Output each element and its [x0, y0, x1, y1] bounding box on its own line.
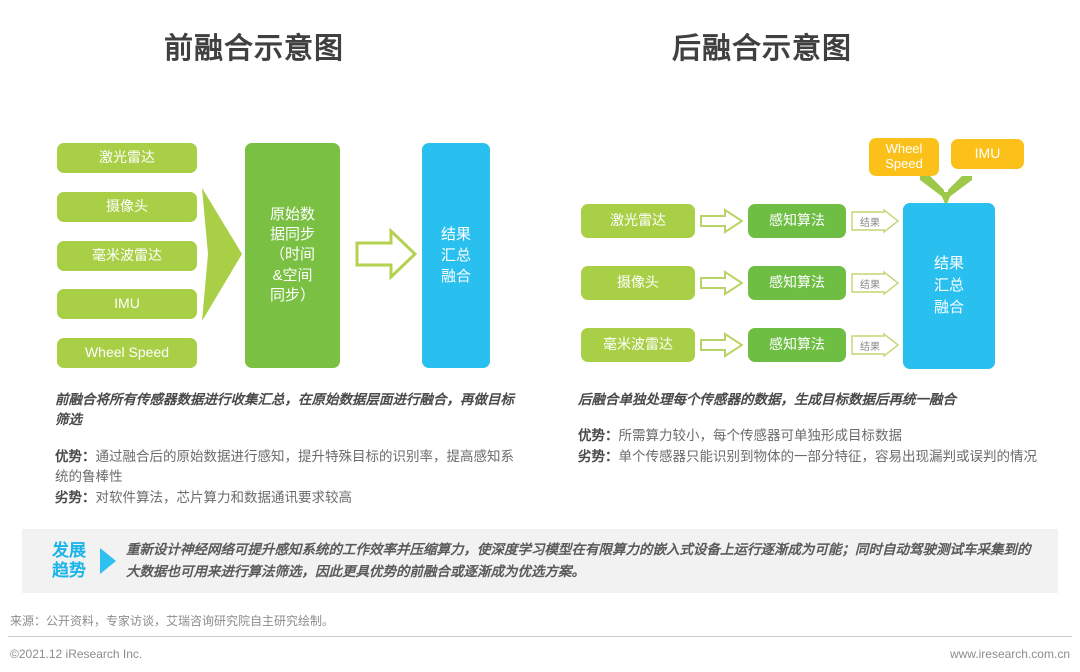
right-algorithm-box: 感知算法: [748, 266, 846, 300]
right-result-arrow: 结果: [851, 271, 899, 295]
right-sensor-box: 激光雷达: [581, 204, 695, 238]
left-con-label: 劣势：: [55, 490, 96, 505]
right-description-lead: 后融合单独处理每个传感器的数据，生成目标数据后再统一融合: [578, 390, 1040, 410]
right-con-label: 劣势：: [578, 449, 619, 464]
right-extra-input-box: Wheel Speed: [869, 138, 939, 176]
right-result-label: 结果: [851, 271, 889, 295]
left-con-text: 对软件算法，芯片算力和数据通讯要求较高: [96, 490, 353, 505]
left-sensor-box: Wheel Speed: [57, 338, 197, 368]
right-algorithm-box: 感知算法: [748, 328, 846, 362]
footer-divider: [8, 636, 1072, 637]
right-con-text: 单个传感器只能识别到物体的一部分特征，容易出现漏判或误判的情况: [619, 449, 1038, 464]
left-sensor-box: IMU: [57, 289, 197, 319]
right-description: 后融合单独处理每个传感器的数据，生成目标数据后再统一融合 优势：所需算力较小，每…: [578, 390, 1040, 468]
triangle-right-icon: [100, 548, 116, 574]
hollow-arrow-right-icon: [355, 228, 417, 280]
left-sensor-box: 毫米波雷达: [57, 241, 197, 271]
trend-text: 重新设计神经网络可提升感知系统的工作效率并压缩算力，使深度学习模型在有限算力的嵌…: [126, 539, 1058, 582]
left-process-box: 原始数 据同步 （时间 &空间 同步）: [245, 143, 340, 368]
hollow-arrow-right-icon: [700, 332, 743, 358]
solid-chevron-right-icon: [202, 188, 242, 321]
left-sensor-box: 摄像头: [57, 192, 197, 222]
trend-badge: 发展 趋势: [40, 541, 98, 582]
hollow-arrow-right-icon: [700, 208, 743, 234]
trend-band: 发展 趋势 重新设计神经网络可提升感知系统的工作效率并压缩算力，使深度学习模型在…: [22, 529, 1058, 593]
right-pro-label: 优势：: [578, 428, 619, 443]
left-sensor-box: 激光雷达: [57, 143, 197, 173]
page-title-left: 前融合示意图: [164, 25, 344, 67]
website-url: www.iresearch.com.cn: [950, 647, 1070, 661]
source-note: 来源：公开资料，专家访谈，艾瑞咨询研究院自主研究绘制。: [10, 612, 334, 629]
right-pro-text: 所需算力较小，每个传感器可单独形成目标数据: [619, 428, 903, 443]
left-pro-text: 通过融合后的原始数据进行感知，提升特殊目标的识别率，提高感知系统的鲁棒性: [55, 449, 514, 485]
left-description-body: 优势：通过融合后的原始数据进行感知，提升特殊目标的识别率，提高感知系统的鲁棒性 …: [55, 447, 521, 510]
right-result-label: 结果: [851, 333, 889, 357]
right-result-arrow: 结果: [851, 333, 899, 357]
right-sensor-box: 摄像头: [581, 266, 695, 300]
infographic-page: 前融合示意图 后融合示意图 激光雷达 摄像头 毫米波雷达 IMU Wheel S…: [0, 0, 1080, 672]
right-description-body: 优势：所需算力较小，每个传感器可单独形成目标数据 劣势：单个传感器只能识别到物体…: [578, 426, 1040, 468]
right-result-arrow: 结果: [851, 209, 899, 233]
left-result-box: 结果 汇总 融合: [422, 143, 490, 368]
right-extra-input-box: IMU: [951, 139, 1024, 169]
left-pro-label: 优势：: [55, 449, 96, 464]
left-description-lead: 前融合将所有传感器数据进行收集汇总，在原始数据层面进行融合，再做目标筛选: [55, 390, 521, 431]
page-title-right: 后融合示意图: [672, 25, 852, 67]
hollow-arrow-right-icon: [700, 270, 743, 296]
copyright-note: ©2021.12 iResearch Inc.: [10, 647, 142, 661]
right-algorithm-box: 感知算法: [748, 204, 846, 238]
right-result-label: 结果: [851, 209, 889, 233]
right-sensor-box: 毫米波雷达: [581, 328, 695, 362]
right-result-box: 结果 汇总 融合: [903, 203, 995, 369]
left-description: 前融合将所有传感器数据进行收集汇总，在原始数据层面进行融合，再做目标筛选 优势：…: [55, 390, 521, 509]
